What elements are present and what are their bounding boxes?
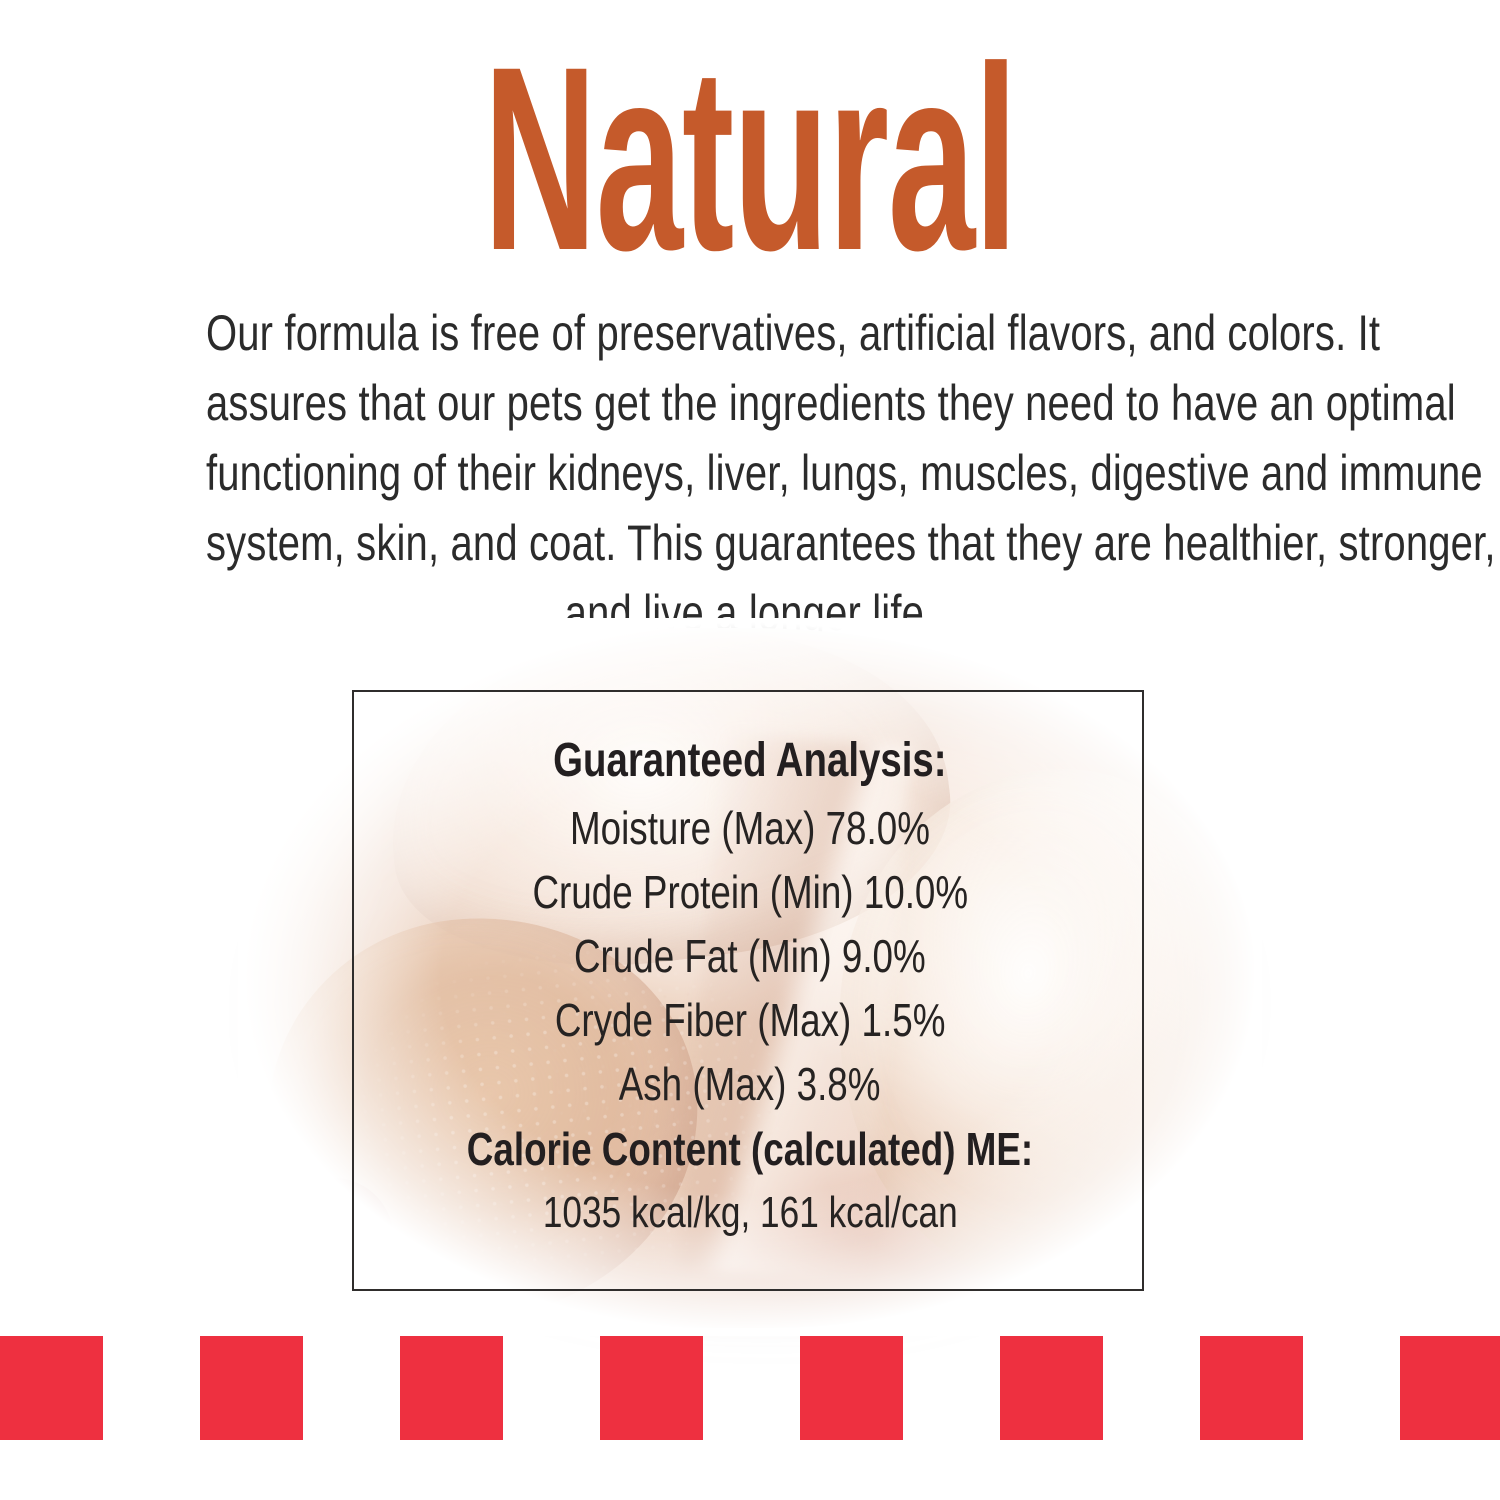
analysis-item-crude-fiber-text: Cryde Fiber (Max) 1.5% <box>555 988 946 1052</box>
analysis-item-crude-fat: Crude Fat (Min) 9.0% <box>354 924 1146 988</box>
poster-canvas: Natural Our formula is free of preservat… <box>0 0 1500 1500</box>
analysis-item-moisture-text: Moisture (Max) 78.0% <box>570 796 930 860</box>
analysis-item-crude-protein-text: Crude Protein (Min) 10.0% <box>532 860 968 924</box>
footer-square <box>1000 1336 1103 1440</box>
intro-line-4: system, skin, and coat. This guarantees … <box>206 508 1294 578</box>
intro-paragraph: Our formula is free of preservatives, ar… <box>70 298 1430 648</box>
guaranteed-analysis-box: Guaranteed Analysis: Moisture (Max) 78.0… <box>352 690 1144 1291</box>
footer-square <box>1400 1336 1500 1440</box>
analysis-item-crude-fiber: Cryde Fiber (Max) 1.5% <box>354 988 1146 1052</box>
intro-line-5: and live a longer life. <box>206 578 1294 648</box>
footer-checker-strip <box>0 1336 1500 1440</box>
guaranteed-analysis-heading: Guaranteed Analysis: <box>354 726 1146 796</box>
analysis-item-ash-text: Ash (Max) 3.8% <box>619 1052 881 1116</box>
analysis-item-moisture: Moisture (Max) 78.0% <box>354 796 1146 860</box>
calorie-content-heading-text: Calorie Content (calculated) ME: <box>467 1116 1033 1182</box>
guaranteed-analysis-heading-text: Guaranteed Analysis: <box>553 726 946 796</box>
calorie-content-value-text: 1035 kcal/kg, 161 kcal/can <box>543 1182 958 1244</box>
intro-line-1: Our formula is free of preservatives, ar… <box>206 298 1294 368</box>
intro-line-3: functioning of their kidneys, liver, lun… <box>206 438 1294 508</box>
calorie-content-value: 1035 kcal/kg, 161 kcal/can <box>354 1182 1146 1244</box>
calorie-content-heading: Calorie Content (calculated) ME: <box>354 1116 1146 1182</box>
intro-line-2: assures that our pets get the ingredient… <box>206 368 1294 438</box>
footer-square <box>800 1336 903 1440</box>
page-title: Natural <box>300 34 1200 284</box>
footer-square <box>200 1336 303 1440</box>
footer-square <box>1200 1336 1303 1440</box>
footer-square <box>600 1336 703 1440</box>
analysis-item-ash: Ash (Max) 3.8% <box>354 1052 1146 1116</box>
analysis-item-crude-fat-text: Crude Fat (Min) 9.0% <box>574 924 926 988</box>
footer-square <box>400 1336 503 1440</box>
analysis-item-crude-protein: Crude Protein (Min) 10.0% <box>354 860 1146 924</box>
footer-square <box>0 1336 103 1440</box>
guaranteed-analysis-content: Guaranteed Analysis: Moisture (Max) 78.0… <box>354 726 1146 1244</box>
